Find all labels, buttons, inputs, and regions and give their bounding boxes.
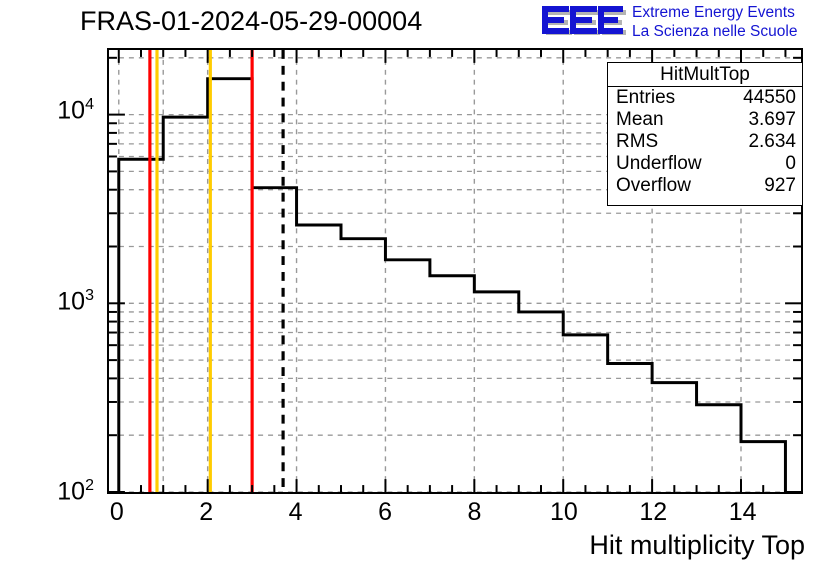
stats-row: RMS2.634 [608, 131, 802, 153]
x-axis-tick-labels: 02468101214 [107, 498, 803, 532]
stats-row-key: RMS [616, 131, 658, 153]
eee-logo-line1: Extreme Energy Events [632, 3, 797, 22]
x-tick-label: 12 [639, 498, 667, 527]
x-tick-label: 2 [199, 498, 213, 527]
eee-logo: Extreme Energy Events La Scienza nelle S… [540, 2, 832, 44]
y-axis-tick-labels: 102103104 [0, 48, 100, 494]
x-tick-label: 10 [550, 498, 578, 527]
stats-row: Overflow927 [608, 175, 802, 197]
y-tick-label: 102 [57, 477, 94, 506]
stats-box-rows: Entries44550Mean3.697RMS2.634Underflow0O… [608, 87, 802, 197]
stats-box: HitMultTop Entries44550Mean3.697RMS2.634… [607, 62, 803, 206]
x-tick-label: 4 [289, 498, 303, 527]
stats-row-key: Overflow [616, 175, 691, 197]
eee-logo-text: Extreme Energy Events La Scienza nelle S… [632, 3, 797, 41]
page-title: FRAS-01-2024-05-29-00004 [80, 6, 422, 37]
y-tick-label: 104 [57, 96, 94, 125]
stats-box-title: HitMultTop [608, 63, 802, 87]
x-tick-label: 8 [467, 498, 481, 527]
stats-row-value: 927 [764, 175, 796, 197]
stats-row-value: 3.697 [748, 109, 796, 131]
stats-row: Mean3.697 [608, 109, 802, 131]
eee-logo-icon [540, 4, 626, 40]
stats-row-value: 0 [785, 153, 796, 175]
stats-row: Entries44550 [608, 87, 802, 109]
x-tick-label: 0 [110, 498, 124, 527]
stats-row-key: Mean [616, 109, 664, 131]
x-tick-label: 6 [378, 498, 392, 527]
stats-row-value: 2.634 [748, 131, 796, 153]
eee-logo-line2: La Scienza nelle Scuole [632, 22, 797, 41]
x-tick-label: 14 [729, 498, 757, 527]
stats-row: Underflow0 [608, 153, 802, 175]
x-axis-title: Hit multiplicity Top [589, 530, 805, 561]
stats-row-value: 44550 [743, 87, 796, 109]
y-tick-label: 103 [57, 287, 94, 316]
stats-row-key: Entries [616, 87, 675, 109]
stats-row-key: Underflow [616, 153, 702, 175]
